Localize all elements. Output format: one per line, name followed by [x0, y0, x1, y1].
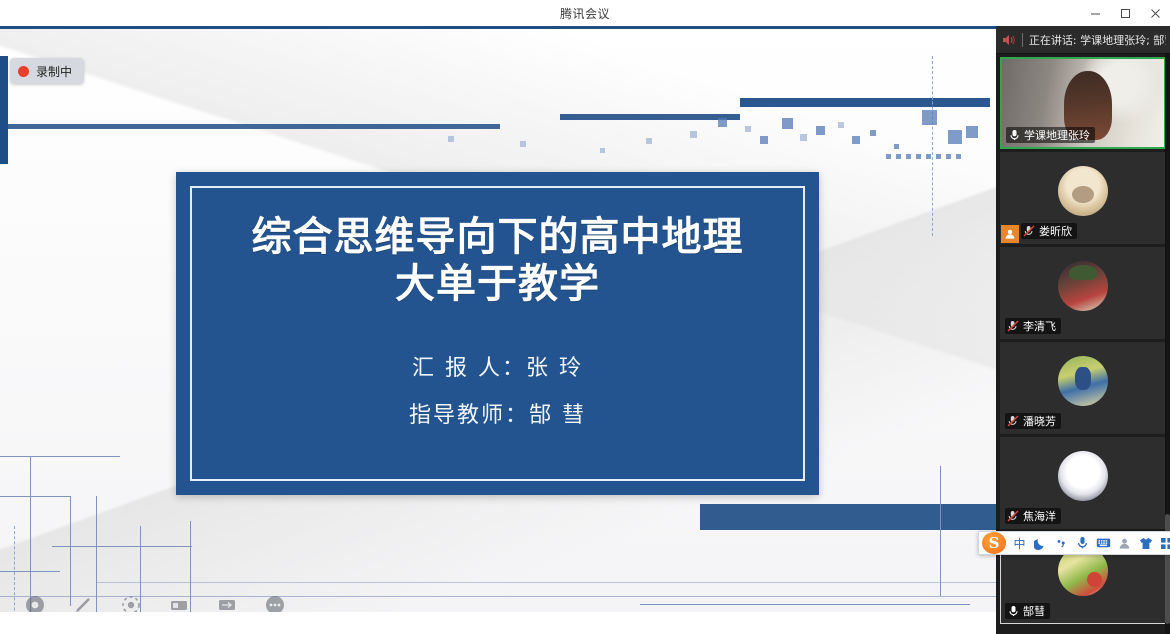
slide-meta: 汇 报 人：张 玲 指导教师：郜 彗: [409, 350, 586, 429]
speaking-header: 正在讲话: 学课地理张玲; 郜彗;: [996, 26, 1170, 54]
participant-name: 李清飞: [1023, 318, 1056, 334]
participant-tag: 焦海洋: [1005, 508, 1061, 524]
window-title: 腾讯会议: [560, 5, 610, 22]
participant-avatar: [1058, 451, 1108, 501]
deco-bar-top: [0, 26, 996, 29]
participant-tag: 娄昕欣: [1021, 223, 1077, 239]
ppt-presenter-toolbar[interactable]: [22, 592, 288, 612]
deco-dash-right: [932, 56, 933, 236]
deco-square: [520, 141, 526, 147]
deco-wire: [52, 546, 192, 547]
host-badge-icon: [1001, 225, 1019, 243]
deco-wire: [940, 466, 941, 596]
participant-tile[interactable]: 李清飞: [1000, 247, 1166, 339]
sogou-logo-icon[interactable]: S: [982, 532, 1006, 554]
deco-square: [690, 131, 697, 138]
microphone-muted-icon: [1007, 510, 1019, 522]
deco-square: [745, 126, 751, 132]
participant-tag: 郜彗: [1005, 603, 1050, 619]
speaking-label: 正在讲话: 学课地理张玲; 郜彗;: [1029, 32, 1166, 48]
deco-dash-left: [14, 526, 15, 612]
recording-label: 录制中: [36, 63, 72, 80]
participant-name: 娄昕欣: [1039, 223, 1072, 239]
participant-avatar: [1058, 166, 1108, 216]
microphone-on-icon: [1008, 129, 1020, 141]
deco-square: [936, 154, 941, 159]
deco-bar-left: [0, 56, 8, 164]
close-button[interactable]: [1140, 0, 1170, 26]
participant-name: 学课地理张玲: [1024, 127, 1090, 143]
pen-icon[interactable]: [70, 592, 96, 612]
deco-square: [894, 144, 899, 149]
deco-square: [760, 136, 768, 144]
window-controls: [1080, 0, 1170, 26]
deco-square: [922, 110, 937, 125]
deco-wire: [30, 456, 31, 612]
voice-input-icon[interactable]: [1072, 532, 1093, 554]
soft-keyboard-icon[interactable]: [1093, 532, 1114, 554]
participant-tile[interactable]: 潘晓芳: [1000, 342, 1166, 434]
recording-indicator[interactable]: 录制中: [10, 58, 84, 84]
participant-tag: 李清飞: [1005, 318, 1061, 334]
laser-pointer-icon[interactable]: [22, 592, 48, 612]
participant-avatar: [1058, 356, 1108, 406]
participant-tag: 学课地理张玲: [1006, 127, 1095, 143]
deco-square: [916, 154, 921, 159]
deco-square: [800, 134, 807, 141]
deco-square: [852, 136, 860, 144]
deco-wire-main2: [96, 582, 996, 583]
participant-tile[interactable]: 娄昕欣: [1000, 152, 1166, 244]
more-options-icon[interactable]: [262, 592, 288, 612]
deco-wire: [0, 571, 60, 572]
deco-square: [966, 126, 978, 138]
deco-block-bottom-right: [700, 504, 996, 530]
deco-square: [646, 138, 652, 144]
deco-wire: [0, 496, 70, 497]
deco-square: [870, 130, 876, 136]
participant-avatar: [1058, 261, 1108, 311]
deco-square: [448, 136, 454, 142]
zoom-slide-icon[interactable]: [214, 592, 240, 612]
deco-square: [816, 126, 825, 135]
deco-bar-mid: [0, 124, 500, 129]
deco-bar-top-right: [740, 98, 990, 107]
slide-advisor: 指导教师：郜 彗: [409, 397, 586, 429]
input-mode-chinese-button[interactable]: 中: [1009, 532, 1030, 554]
deco-bar-upper-right: [560, 114, 740, 120]
participant-name: 郜彗: [1023, 603, 1045, 619]
deco-square: [600, 148, 605, 153]
punctuation-icon[interactable]: [1051, 532, 1072, 554]
deco-square: [948, 130, 962, 144]
user-account-icon[interactable]: [1114, 532, 1135, 554]
window-titlebar: 腾讯会议: [0, 0, 1170, 26]
participant-tile[interactable]: 焦海洋: [1000, 437, 1166, 529]
skin-icon[interactable]: [1135, 532, 1156, 554]
microphone-muted-icon: [1007, 320, 1019, 332]
minimize-button[interactable]: [1080, 0, 1110, 26]
presentation-slide[interactable]: 综合思维导向下的高中地理大单于教学 汇 报 人：张 玲 指导教师：郜 彗: [176, 172, 819, 495]
speaker-wave-icon: [1000, 32, 1016, 48]
deco-square: [906, 154, 911, 159]
deco-wire: [0, 456, 120, 457]
recording-dot-icon: [18, 66, 29, 77]
deco-square: [782, 118, 793, 129]
microphone-muted-icon: [1023, 225, 1035, 237]
maximize-button[interactable]: [1110, 0, 1140, 26]
toolbox-icon[interactable]: [1156, 532, 1170, 554]
header-divider: [1022, 33, 1023, 47]
participant-name: 潘晓芳: [1023, 413, 1056, 429]
spotlight-icon[interactable]: [118, 592, 144, 612]
participant-name: 焦海洋: [1023, 508, 1056, 524]
deco-wire: [640, 604, 970, 605]
deco-square: [838, 122, 844, 128]
deco-square: [896, 154, 901, 159]
slide-grid-icon[interactable]: [166, 592, 192, 612]
microphone-on-icon: [1007, 605, 1019, 617]
moon-icon[interactable]: [1030, 532, 1051, 554]
participant-tag: 潘晓芳: [1005, 413, 1061, 429]
microphone-muted-icon: [1007, 415, 1019, 427]
sogou-ime-toolbar[interactable]: S 中: [978, 531, 1170, 555]
shared-screen-area[interactable]: 录制中 综合思维导向下的高中地理大单于教学 汇 报 人：张 玲 指导教师：郜 彗: [0, 26, 996, 612]
slide-title: 综合思维导向下的高中地理大单于教学: [233, 214, 763, 308]
participant-tile[interactable]: 学课地理张玲: [1000, 57, 1166, 149]
deco-wire: [70, 496, 71, 606]
deco-square: [886, 154, 891, 159]
deco-square: [718, 118, 727, 127]
deco-square: [956, 154, 961, 159]
deco-square: [946, 154, 951, 159]
slide-presenter: 汇 报 人：张 玲: [412, 350, 583, 382]
deco-square: [926, 154, 931, 159]
